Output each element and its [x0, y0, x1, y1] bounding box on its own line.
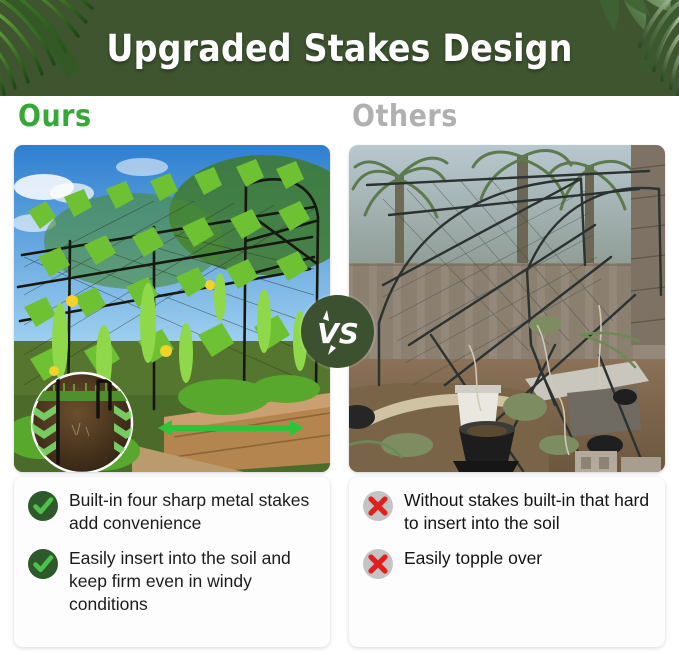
list-item-label: Without stakes built-in that hard to ins…: [404, 489, 652, 535]
stake-detail-inset-icon: [24, 367, 144, 472]
check-circle-icon: [27, 490, 59, 522]
page-title: Upgraded Stakes Design: [0, 0, 679, 96]
benefits-card-ours: Built-in four sharp metal stakes add con…: [14, 477, 330, 647]
vs-badge: VS: [301, 295, 374, 368]
list-item: Easily topple over: [362, 547, 652, 580]
list-item: Easily insert into the soil and keep fir…: [27, 547, 317, 616]
label-others: Others: [352, 99, 458, 134]
column-labels: Ours Others: [0, 99, 679, 141]
check-circle-icon: [27, 548, 59, 580]
width-arrow-icon: [156, 417, 306, 439]
label-ours: Ours: [18, 99, 92, 134]
list-item-label: Easily topple over: [404, 547, 542, 570]
x-circle-icon: [362, 548, 394, 580]
vs-text-icon: VS: [315, 307, 361, 357]
svg-text:VS: VS: [317, 317, 359, 350]
photo-ours: [14, 145, 330, 472]
x-circle-icon: [362, 490, 394, 522]
page-header: Upgraded Stakes Design: [0, 0, 679, 96]
photo-others: [349, 145, 665, 472]
drawbacks-card-others: Without stakes built-in that hard to ins…: [349, 477, 665, 647]
list-item: Built-in four sharp metal stakes add con…: [27, 489, 317, 535]
list-item-label: Easily insert into the soil and keep fir…: [69, 547, 317, 616]
list-item: Without stakes built-in that hard to ins…: [362, 489, 652, 535]
list-item-label: Built-in four sharp metal stakes add con…: [69, 489, 317, 535]
